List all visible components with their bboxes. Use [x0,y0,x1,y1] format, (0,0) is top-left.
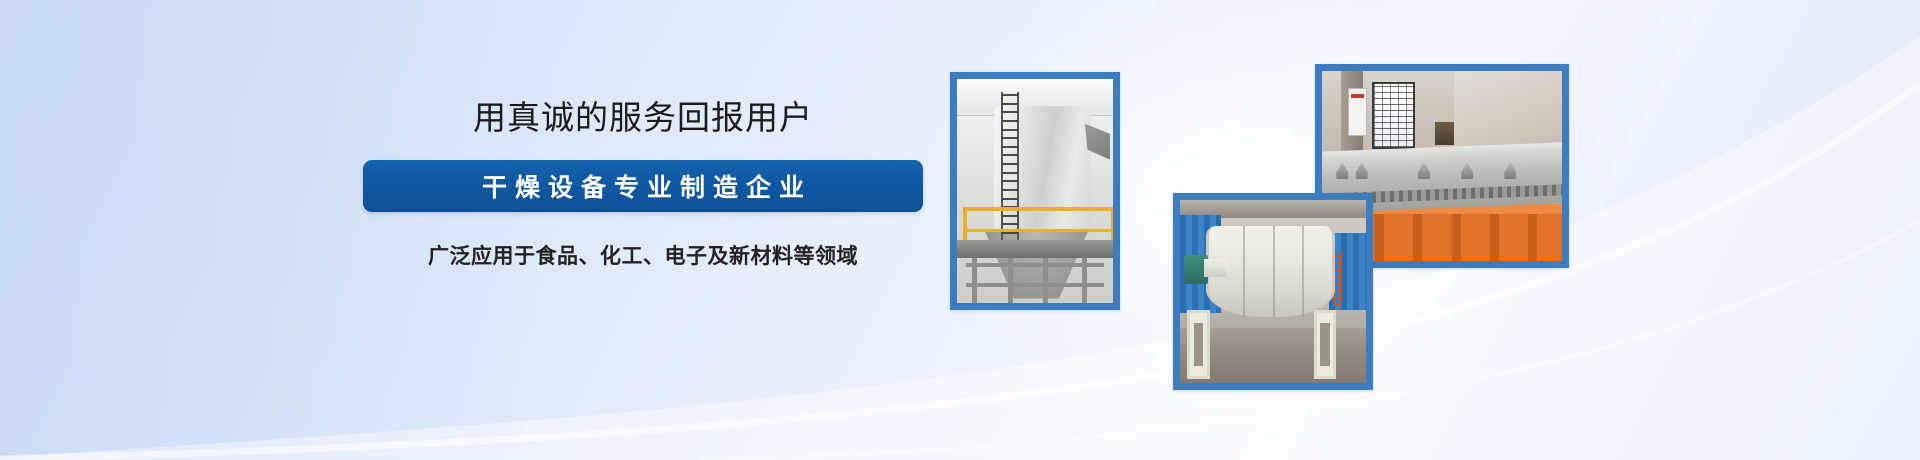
tagline: 广泛应用于食品、化工、电子及新材料等领域 [363,240,923,270]
photo-ribbon-mixer-scene [1180,200,1366,383]
page-title: 用真诚的服务回报用户 [363,100,923,136]
photo-spray-dryer-tower-scene [957,79,1113,303]
copy-block: 用真诚的服务回报用户 干燥设备专业制造企业 广泛应用于食品、化工、电子及新材料等… [363,100,923,270]
promo-banner: 用真诚的服务回报用户 干燥设备专业制造企业 广泛应用于食品、化工、电子及新材料等… [0,0,1920,460]
photo-spray-dryer-tower [950,72,1120,310]
slogan-ribbon: 干燥设备专业制造企业 [363,160,923,212]
slogan-ribbon-label: 干燥设备专业制造企业 [474,168,812,204]
photo-ribbon-mixer [1173,193,1373,390]
